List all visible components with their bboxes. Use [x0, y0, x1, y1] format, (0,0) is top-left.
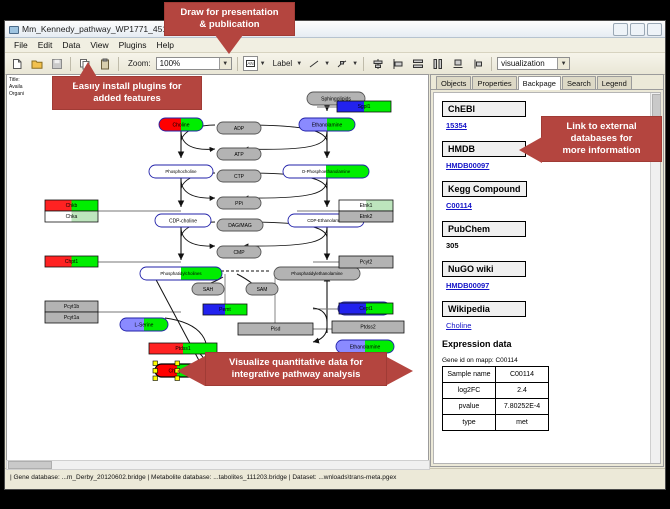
svg-text:Choline: Choline	[173, 122, 190, 128]
visualization-combobox[interactable]: visualization ▼	[497, 57, 570, 70]
datanode-dropdown-icon[interactable]: ▼	[260, 61, 266, 67]
metabolite-node-l-serine-left[interactable]: L-Serine	[120, 318, 168, 331]
svg-text:PPi: PPi	[235, 201, 243, 207]
menu-item-help[interactable]: Help	[152, 40, 179, 50]
metabolite-node-adp[interactable]: ADP	[217, 122, 261, 134]
svg-text:DAG/MAG: DAG/MAG	[228, 223, 252, 229]
gene-box-pcyt1a[interactable]: Pcyt1a	[45, 312, 98, 323]
svg-text:ATP: ATP	[234, 152, 244, 158]
datanode-icon[interactable]: AN	[243, 56, 258, 71]
svg-text:Cept1: Cept1	[359, 306, 373, 312]
callout-visualize-arrow-left	[177, 356, 205, 386]
expression-data-heading: Expression data	[442, 339, 651, 349]
tab-legend[interactable]: Legend	[597, 76, 632, 89]
svg-text:CMP: CMP	[233, 250, 245, 256]
menu-item-view[interactable]: View	[85, 40, 113, 50]
stack-bottom-icon[interactable]	[449, 55, 466, 72]
minimize-button[interactable]	[613, 23, 628, 36]
svg-text:Ethanolamine: Ethanolamine	[350, 344, 381, 350]
save-file-icon[interactable]	[48, 55, 65, 72]
selection-handle[interactable]	[153, 369, 158, 374]
label-button[interactable]: Label	[273, 59, 293, 68]
tab-search[interactable]: Search	[562, 76, 596, 89]
svg-text:Pcyt1b: Pcyt1b	[64, 304, 80, 310]
pathvisio-window: Mm_Kennedy_pathway_WP1771_45176.gpml Fil…	[4, 20, 666, 490]
close-button[interactable]	[647, 23, 662, 36]
callout-link-line3: more information	[548, 145, 655, 157]
expression-table: Sample name C00114 log2FC 2.4 pvalue 7.8…	[442, 366, 549, 431]
canvas-horizontal-scrollbar[interactable]	[6, 460, 430, 470]
pathway-graph: SphingolipidsCholineEthanolamineADPATPPh…	[7, 75, 429, 467]
gene-box-pcyt1b[interactable]: Pcyt1b	[45, 301, 98, 312]
zoom-combobox[interactable]: 100% ▼	[156, 57, 232, 70]
svg-text:Ptdss1: Ptdss1	[175, 346, 191, 352]
expr-label-log2fc: log2FC	[443, 383, 496, 399]
toolbar-separator-3	[237, 57, 238, 71]
gene-box-etnk2[interactable]: Etnk2	[339, 211, 393, 222]
svg-text:SAM: SAM	[257, 287, 268, 293]
metabolite-node-o-phosphoethanolamine[interactable]: O-Phosphoethanolamine	[283, 165, 369, 178]
db-link-kegg[interactable]: C00114	[446, 201, 651, 210]
scrollbar-thumb[interactable]	[8, 461, 52, 469]
svg-text:Phosphatidylethanolamine: Phosphatidylethanolamine	[291, 271, 343, 276]
table-row: pvalue 7.80252E-4	[443, 399, 549, 415]
svg-text:Phosphatidylcholines: Phosphatidylcholines	[160, 271, 202, 276]
metabolite-node-cdp-choline[interactable]: CDP-choline	[155, 214, 211, 227]
callout-link-line1: Link to external	[548, 121, 655, 133]
callout-visualize: Visualize quantitative data for integrat…	[205, 352, 387, 386]
svg-text:ADP: ADP	[234, 126, 245, 132]
gene-box-chkb[interactable]: Chkb	[45, 200, 98, 211]
callout-draw: Draw for presentation & publication	[164, 2, 295, 36]
callout-visualize-line2: integrative pathway analysis	[212, 369, 380, 381]
interaction-icon[interactable]	[333, 55, 350, 72]
status-text: | Gene database: ...m_Derby_20120602.bri…	[10, 474, 396, 481]
pathway-canvas[interactable]: Title: Availa Organi	[6, 74, 429, 467]
line-icon[interactable]	[305, 55, 322, 72]
chevron-down-icon[interactable]: ▼	[557, 58, 569, 69]
callout-link-arrow	[519, 137, 542, 163]
callout-draw-line1: Draw for presentation	[171, 7, 288, 19]
svg-text:Ptdss2: Ptdss2	[360, 325, 376, 331]
tab-properties[interactable]: Properties	[472, 76, 516, 89]
db-header-chebi: ChEBI	[442, 101, 526, 117]
metabolite-node-sam[interactable]: SAM	[246, 283, 278, 295]
menu-item-plugins[interactable]: Plugins	[114, 40, 152, 50]
db-header-hmdb: HMDB	[442, 141, 526, 157]
tab-objects[interactable]: Objects	[436, 76, 471, 89]
line-dropdown-icon[interactable]: ▼	[324, 61, 330, 67]
align-center-icon[interactable]	[369, 55, 386, 72]
open-file-icon[interactable]	[28, 55, 45, 72]
svg-text:L-Serine: L-Serine	[135, 322, 154, 328]
svg-text:Ethanolamine: Ethanolamine	[312, 122, 343, 128]
svg-text:Etnk1: Etnk1	[360, 203, 373, 209]
callout-draw-arrow	[215, 35, 243, 54]
expr-value-log2fc: 2.4	[496, 383, 549, 399]
db-link-wikipedia[interactable]: Choline	[446, 321, 651, 330]
metabolite-node-choline[interactable]: Choline	[159, 118, 203, 131]
menu-item-edit[interactable]: Edit	[33, 40, 58, 50]
svg-text:Pcyt2: Pcyt2	[360, 260, 373, 266]
gene-box-ptdss2[interactable]: Ptdss2	[332, 321, 404, 333]
svg-text:Pemt: Pemt	[219, 307, 231, 313]
app-icon	[8, 24, 18, 34]
db-link-nugo[interactable]: HMDB00097	[446, 281, 651, 290]
db-header-wikipedia: Wikipedia	[442, 301, 526, 317]
table-row: type met	[443, 415, 549, 431]
metabolite-node-ppi[interactable]: PPi	[217, 197, 261, 209]
maximize-button[interactable]	[630, 23, 645, 36]
side-panel-tabs: Objects Properties Backpage Search Legen…	[431, 75, 663, 90]
selection-handle[interactable]	[153, 376, 158, 381]
new-file-icon[interactable]	[8, 55, 25, 72]
svg-text:O-Phosphoethanolamine: O-Phosphoethanolamine	[302, 169, 351, 174]
expr-value-pvalue: 7.80252E-4	[496, 399, 549, 415]
gene-box-chka[interactable]: Chka	[45, 211, 98, 222]
interaction-dropdown-icon[interactable]: ▼	[352, 61, 358, 67]
align-left-icon[interactable]	[389, 55, 406, 72]
expr-label-pvalue: pvalue	[443, 399, 496, 415]
toolbar-separator-5	[491, 57, 492, 71]
svg-text:Chka: Chka	[66, 214, 78, 220]
callout-plugins-line2: added features	[59, 93, 195, 105]
status-bar: | Gene database: ...m_Derby_20120602.bri…	[5, 468, 665, 489]
db-header-nugo: NuGO wiki	[442, 261, 526, 277]
menu-bar: File Edit Data View Plugins Help	[5, 38, 665, 53]
metabolite-node-atp[interactable]: ATP	[217, 148, 261, 160]
callout-link-line2: databases for	[548, 133, 655, 145]
metabolite-node-phosphocholine[interactable]: Phosphocholine	[149, 165, 213, 178]
expr-value-sample: C00114	[496, 367, 549, 383]
svg-text:Sgpl1: Sgpl1	[358, 104, 371, 110]
title-bar: Mm_Kennedy_pathway_WP1771_45176.gpml	[5, 21, 665, 38]
zoom-value: 100%	[160, 59, 180, 68]
metabolite-node-sah[interactable]: SAH	[192, 283, 224, 295]
window-controls[interactable]	[613, 23, 662, 36]
svg-text:Pisd: Pisd	[271, 327, 281, 333]
metabolite-node-dag-mag[interactable]: DAG/MAG	[217, 219, 263, 231]
gene-box-pisd[interactable]: Pisd	[238, 323, 313, 335]
callout-visualize-arrow-right	[385, 356, 413, 386]
callout-visualize-line1: Visualize quantitative data for	[212, 357, 380, 369]
label-dropdown-icon[interactable]: ▼	[296, 61, 302, 67]
distribute-horizontal-icon[interactable]	[429, 55, 446, 72]
gene-box-chpt1[interactable]: Chpt1	[45, 256, 98, 267]
gene-box-pcyt2[interactable]: Pcyt2	[339, 256, 393, 268]
svg-text:Etnk2: Etnk2	[360, 214, 373, 220]
gene-id-line: Gene id on mapp: C00114	[442, 357, 651, 364]
distribute-vertical-icon[interactable]	[409, 55, 426, 72]
toolbar-separator-1	[70, 57, 71, 71]
visualization-value: visualization	[501, 59, 545, 68]
gene-box-cept1[interactable]: Cept1	[339, 303, 393, 314]
toolbar: Zoom: 100% ▼ AN ▼ Label ▼ ▼ ▼	[5, 53, 665, 75]
selection-handle[interactable]	[153, 361, 158, 366]
metabolite-node-phosphatidylethanolamine[interactable]: Phosphatidylethanolamine	[274, 267, 360, 280]
svg-text:Chpt1: Chpt1	[65, 259, 79, 265]
metabolite-node-cmp[interactable]: CMP	[217, 246, 261, 258]
expr-label-type: type	[443, 415, 496, 431]
svg-text:Pcyt1a: Pcyt1a	[64, 315, 80, 321]
menu-item-data[interactable]: Data	[57, 40, 85, 50]
svg-text:AN: AN	[247, 61, 253, 66]
callout-plugins-arrow	[75, 62, 101, 84]
toolbar-separator-4	[363, 57, 364, 71]
toolbar-separator-2	[118, 57, 119, 71]
metabolite-node-ethanolamine-top[interactable]: Ethanolamine	[299, 118, 355, 131]
svg-text:Chkb: Chkb	[66, 203, 78, 209]
svg-text:CDP-choline: CDP-choline	[169, 218, 197, 224]
chevron-down-icon[interactable]: ▼	[219, 58, 231, 69]
svg-text:Phosphocholine: Phosphocholine	[165, 169, 197, 174]
expr-value-type: met	[496, 415, 549, 431]
svg-text:CTP: CTP	[234, 174, 245, 180]
svg-text:SAH: SAH	[203, 287, 214, 293]
tab-backpage[interactable]: Backpage	[518, 76, 561, 90]
db-value-pubchem: 305	[446, 241, 651, 250]
db-link-hmdb[interactable]: HMDB00097	[446, 161, 651, 170]
db-header-kegg: Kegg Compound	[442, 181, 527, 197]
menu-item-file[interactable]: File	[9, 40, 33, 50]
gene-box-pemt[interactable]: Pemt	[203, 304, 247, 315]
expr-label-sample: Sample name	[443, 367, 496, 383]
table-row: Sample name C00114	[443, 367, 549, 383]
gene-box-sgpl1[interactable]: Sgpl1	[337, 101, 391, 112]
table-row: log2FC 2.4	[443, 383, 549, 399]
callout-draw-line2: & publication	[171, 19, 288, 31]
db-header-pubchem: PubChem	[442, 221, 526, 237]
zoom-label: Zoom:	[128, 59, 151, 68]
group-icon[interactable]	[469, 55, 486, 72]
gene-box-etnk1[interactable]: Etnk1	[339, 200, 393, 211]
metabolite-node-phosphatidylcholines[interactable]: Phosphatidylcholines	[140, 267, 222, 280]
callout-link: Link to external databases for more info…	[541, 116, 662, 162]
metabolite-node-ctp[interactable]: CTP	[217, 170, 261, 182]
metabolite-layer: SphingolipidsCholineEthanolamineADPATPPh…	[120, 92, 394, 381]
